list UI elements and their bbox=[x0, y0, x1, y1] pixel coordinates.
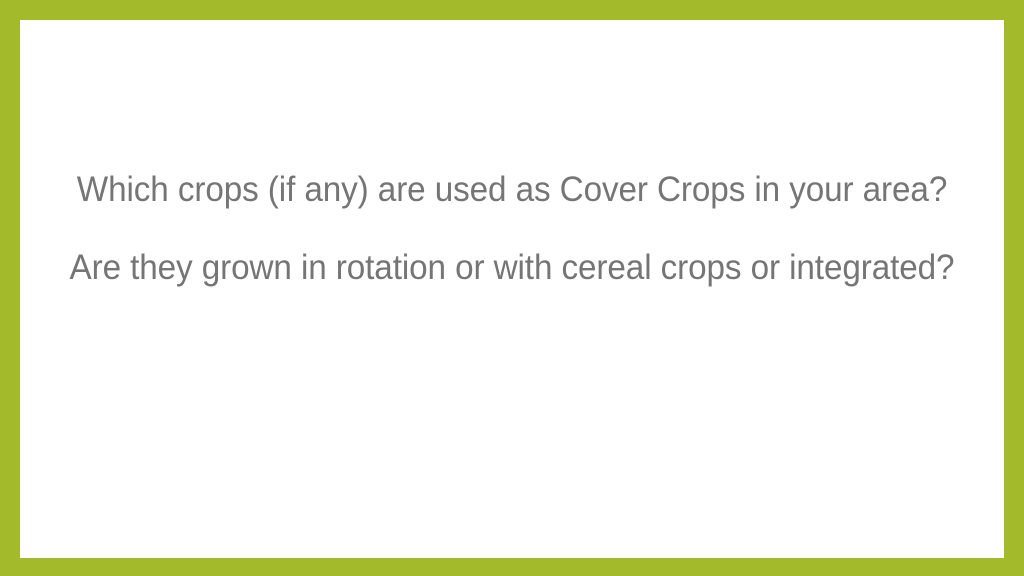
slide-text-block: Which crops (if any) are used as Cover C… bbox=[20, 20, 1004, 287]
question-line-1: Which crops (if any) are used as Cover C… bbox=[45, 170, 980, 209]
slide-canvas: Which crops (if any) are used as Cover C… bbox=[20, 20, 1004, 558]
question-line-2: Are they grown in rotation or with cerea… bbox=[45, 248, 980, 287]
presentation-slide: Which crops (if any) are used as Cover C… bbox=[0, 0, 1024, 576]
